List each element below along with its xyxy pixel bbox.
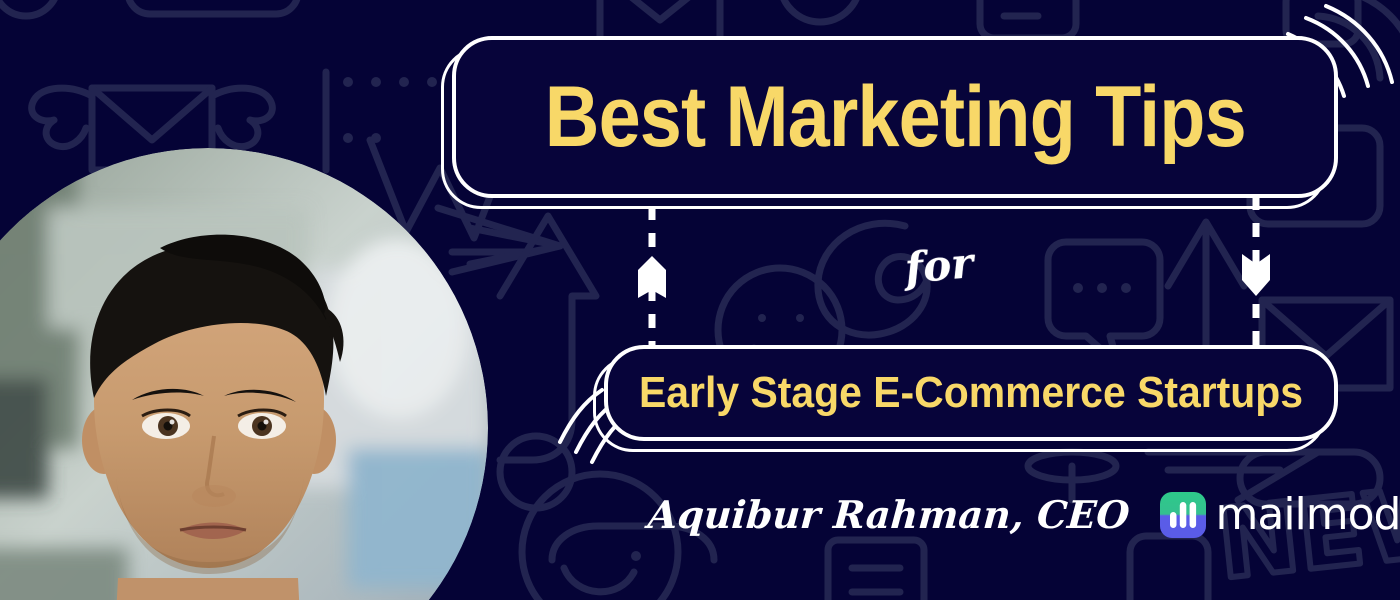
connector-word: for [903, 242, 975, 290]
audience-card: Early Stage E-Commerce Startups [604, 345, 1338, 441]
audience-label: Early Stage E-Commerce Startups [639, 371, 1303, 415]
presenter-name: Aquibur Rahman, CEO [647, 496, 1131, 534]
promo-banner: NEW! [0, 0, 1400, 600]
brand-lockup[interactable]: mailmodo [1160, 492, 1400, 538]
title-card-frame: Best Marketing Tips [452, 36, 1338, 198]
title-card: Best Marketing Tips [452, 36, 1338, 198]
dashed-arrow-down-icon [1234, 196, 1278, 346]
page-title: Best Marketing Tips [544, 74, 1245, 160]
brand-wordmark: mailmodo [1216, 493, 1400, 537]
dashed-arrow-up-icon [630, 206, 674, 346]
presenter-row: Aquibur Rahman, CEO mailmodo [648, 480, 1308, 550]
mailmodo-bars-icon [1160, 492, 1206, 538]
audience-card-frame: Early Stage E-Commerce Startups [604, 345, 1338, 441]
